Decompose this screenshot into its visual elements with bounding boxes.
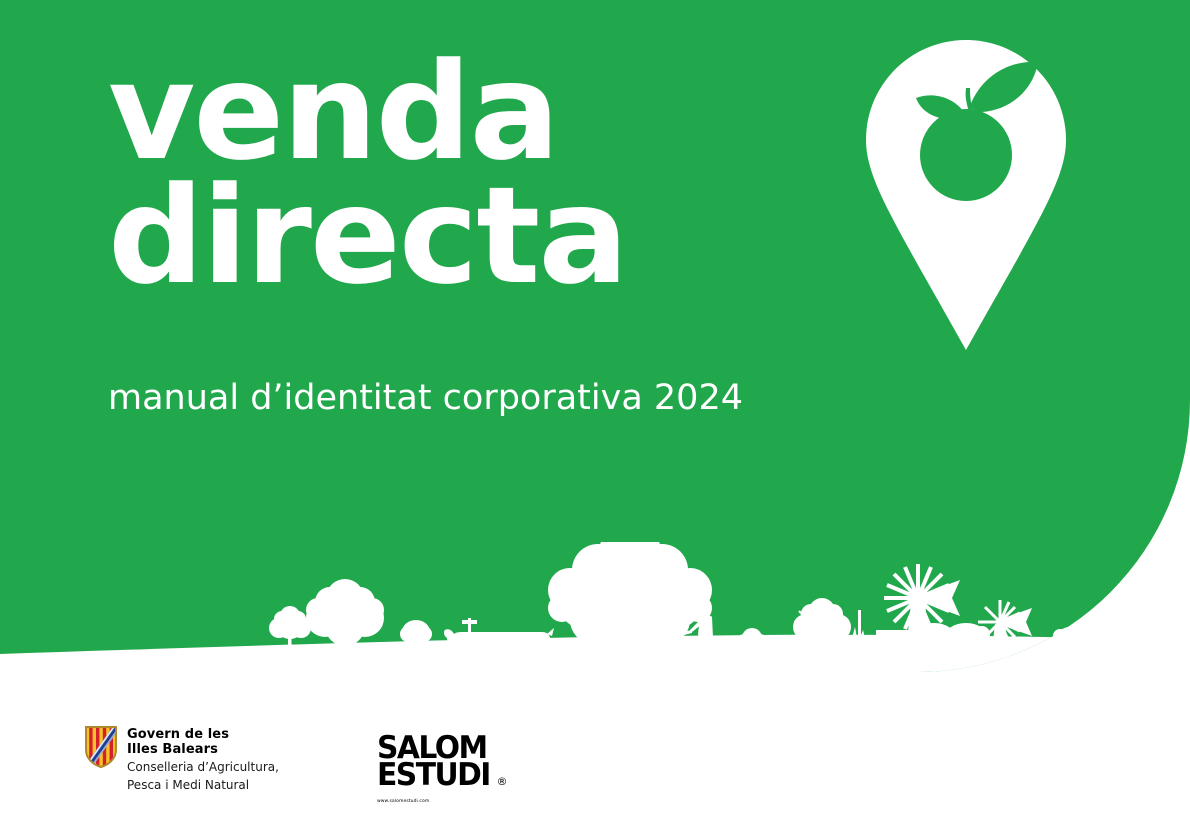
venda-directa-pin-logo (866, 40, 1066, 350)
cover-page: venda directa manual d’identitat corpora… (0, 0, 1190, 813)
salom-url: www.salomestudi.com (377, 799, 429, 804)
registered-trademark-icon: ® (497, 776, 508, 787)
govern-dept-line-1: Conselleria d’Agricultura, (127, 760, 279, 775)
footer-bar: Govern de les Illes Balears Conselleria … (0, 672, 1190, 813)
salom-text-estudi: ESTUDI (377, 762, 490, 789)
govern-name-line-2: Illes Balears (127, 742, 279, 757)
govern-illes-balears-logo: Govern de les Illes Balears Conselleria … (84, 726, 279, 793)
salom-wordmark-line-2: ESTUDI ® (377, 762, 487, 789)
green-background-panel: venda directa manual d’identitat corpora… (0, 0, 1190, 672)
page-title: venda directa (108, 48, 828, 300)
govern-text-block: Govern de les Illes Balears Conselleria … (127, 726, 279, 793)
salom-estudi-logo: SALOM ESTUDI ® www.salomestudi.com (377, 735, 487, 807)
headline-line-1: venda (108, 48, 828, 176)
govern-name-line-1: Govern de les (127, 727, 279, 742)
page-subtitle: manual d’identitat corporativa 2024 (108, 378, 743, 418)
rural-landscape-silhouette (0, 542, 1190, 672)
headline-line-2: directa (108, 172, 828, 300)
govern-dept-line-2: Pesca i Medi Natural (127, 778, 279, 793)
balearic-shield-icon (84, 726, 118, 768)
